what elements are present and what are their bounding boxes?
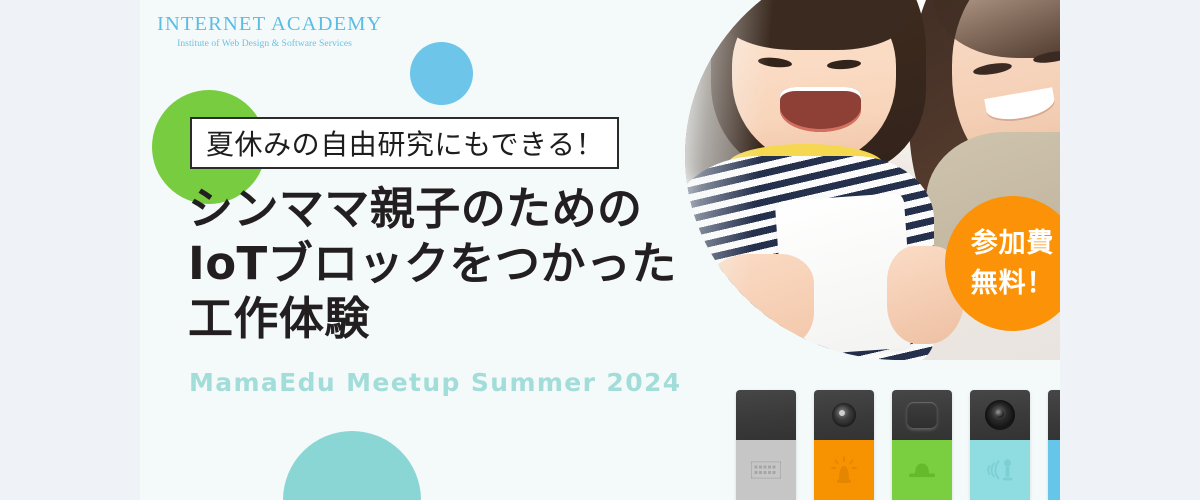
microphone-icon (985, 457, 1015, 483)
lens-icon (832, 403, 856, 427)
block-bottom-face (736, 440, 796, 500)
block-top-face (1048, 390, 1060, 440)
keyboard-icon (751, 462, 781, 479)
logo[interactable]: INTERNET ACADEMY Institute of Web Design… (157, 14, 372, 48)
button-icon (908, 462, 936, 478)
headline-line-3: 工作体験 (188, 291, 788, 346)
block-top-face (970, 390, 1030, 440)
blue-circle (410, 42, 473, 105)
iot-block-button (892, 390, 952, 500)
block-top-face (892, 390, 952, 440)
block-bottom-face (814, 440, 874, 500)
logo-title: INTERNET ACADEMY (157, 14, 372, 35)
block-bottom-face (892, 440, 952, 500)
push-button-icon (907, 402, 937, 428)
block-top-face (736, 390, 796, 440)
block-bottom-face (1048, 440, 1060, 500)
block-bottom-face (970, 440, 1030, 500)
iot-block-keyboard (736, 390, 796, 500)
camera-icon (985, 400, 1015, 430)
price-badge-line-2: 無料！ (971, 264, 1054, 304)
iot-block-move (1048, 390, 1060, 500)
teal-circle (283, 431, 421, 500)
iot-block-microphone (970, 390, 1030, 500)
iot-block-alarm-light (814, 390, 874, 500)
kicker-badge: 夏休みの自由研究にもできる！ (190, 117, 619, 169)
iot-block-row (590, 390, 1060, 500)
price-badge-line-1: 参加費 (971, 224, 1054, 264)
alarm-light-icon (830, 456, 858, 484)
banner-canvas: INTERNET ACADEMY Institute of Web Design… (0, 0, 1200, 500)
headline-line-1: シンママ親子のための (188, 181, 788, 236)
banner-panel: INTERNET ACADEMY Institute of Web Design… (140, 0, 1060, 500)
page-title: シンママ親子のための IoTブロックをつかった 工作体験 (188, 181, 788, 346)
block-top-face (814, 390, 874, 440)
headline-line-2: IoTブロックをつかった (188, 236, 788, 291)
logo-tagline: Institute of Web Design & Software Servi… (157, 39, 372, 49)
